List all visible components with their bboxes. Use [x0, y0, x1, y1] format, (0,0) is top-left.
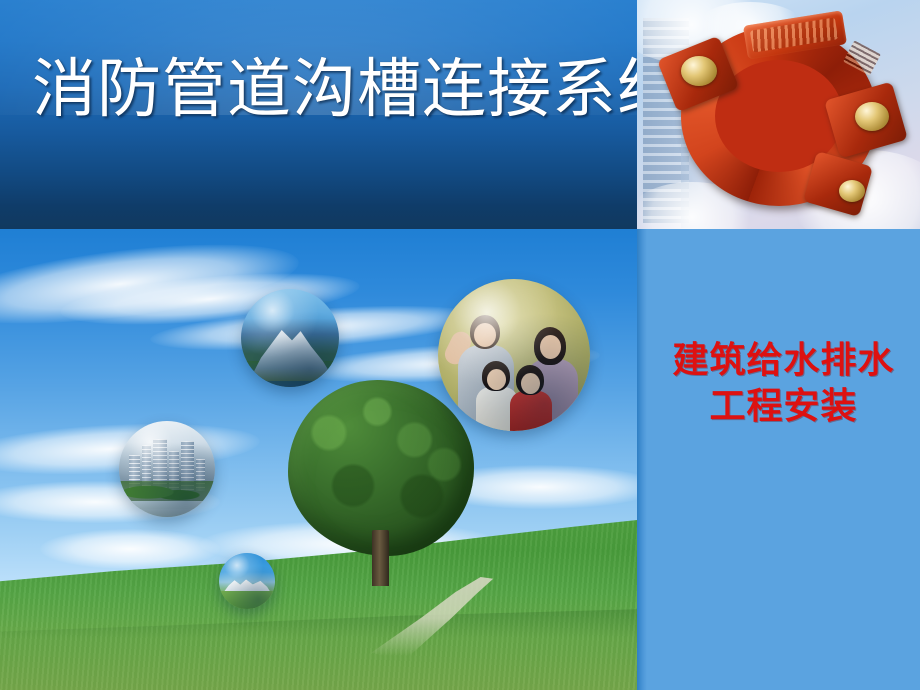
- subtitle-panel: 建筑给水排水 工程安装: [637, 229, 920, 690]
- sphere-small-lake: [219, 553, 275, 609]
- clamp-photo: [637, 0, 920, 229]
- grooved-coupling-clamp: [659, 12, 909, 220]
- clamp-bolt-bottom: [839, 180, 865, 202]
- landscape-photo: [0, 229, 637, 690]
- subtitle-line-2: 工程安装: [647, 383, 920, 429]
- clamp-bolt-left: [681, 56, 717, 86]
- title-banner: 消防管道沟槽连接系统: [0, 0, 637, 229]
- cloud: [40, 529, 220, 569]
- panel-left-edge: [637, 229, 647, 690]
- subtitle-line-1: 建筑给水排水: [647, 337, 920, 383]
- sphere-mountain: [241, 289, 339, 387]
- sphere-gloss: [438, 279, 590, 431]
- sphere-gloss: [241, 289, 339, 387]
- subtitle-text: 建筑给水排水 工程安装: [647, 337, 920, 429]
- tree-trunk: [372, 530, 389, 586]
- sphere-gloss: [119, 421, 215, 517]
- tree: [288, 380, 474, 584]
- clamp-bolt-right: [855, 102, 889, 131]
- page-title: 消防管道沟槽连接系统: [32, 52, 617, 128]
- sphere-city: [119, 421, 215, 517]
- sphere-family: [438, 279, 590, 431]
- presentation-slide: 消防管道沟槽连接系统: [0, 0, 920, 690]
- sphere-gloss: [219, 553, 275, 609]
